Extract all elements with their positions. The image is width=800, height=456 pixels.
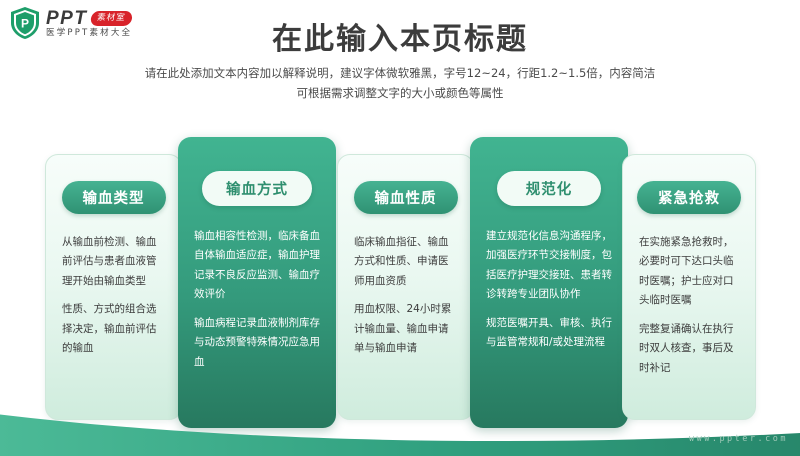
card-paragraph: 完整复诵确认在执行时双人核查，事后及时补记 (639, 320, 739, 378)
card-paragraph: 输血相容性检测，临床备血自体输血适应症，输血护理记录不良反应监测、输血疗效评价 (194, 227, 320, 305)
card-body: 输血相容性检测，临床备血自体输血适应症，输血护理记录不良反应监测、输血疗效评价 … (178, 227, 336, 372)
card-title-pill: 紧急抢救 (637, 181, 741, 214)
card-title-pill: 规范化 (497, 171, 601, 206)
card-body: 在实施紧急抢救时，必要时可下达口头临时医嘱；护士应对口头临时医嘱 完整复诵确认在… (623, 233, 755, 378)
card-paragraph: 在实施紧急抢救时，必要时可下达口头临时医嘱；护士应对口头临时医嘱 (639, 233, 739, 311)
card-emergency-rescue[interactable]: 紧急抢救 在实施紧急抢救时，必要时可下达口头临时医嘱；护士应对口头临时医嘱 完整… (622, 154, 756, 420)
card-paragraph: 从输血前检测、输血前评估与患者血液管理开始由输血类型 (62, 233, 165, 291)
card-paragraph: 性质、方式的组合选择决定，输血前评估的输血 (62, 300, 165, 358)
card-transfusion-type[interactable]: 输血类型 从输血前检测、输血前评估与患者血液管理开始由输血类型 性质、方式的组合… (45, 154, 182, 420)
card-body: 建立规范化信息沟通程序，加强医疗环节交接制度，包括医疗护理交接班、患者转诊转跨专… (470, 227, 628, 353)
card-title-pill: 输血方式 (202, 171, 312, 206)
card-standardization[interactable]: 规范化 建立规范化信息沟通程序，加强医疗环节交接制度，包括医疗护理交接班、患者转… (470, 137, 628, 428)
card-paragraph: 规范医嘱开具、审核、执行与监管常规和/或处理流程 (486, 314, 612, 353)
card-title-pill: 输血类型 (62, 181, 166, 214)
card-transfusion-method[interactable]: 输血方式 输血相容性检测，临床备血自体输血适应症，输血护理记录不良反应监测、输血… (178, 137, 336, 428)
card-paragraph: 输血病程记录血液制剂库存与动态预警特殊情况应急用血 (194, 314, 320, 372)
card-paragraph: 建立规范化信息沟通程序，加强医疗环节交接制度，包括医疗护理交接班、患者转诊转跨专… (486, 227, 612, 305)
card-body: 临床输血指征、输血方式和性质、申请医师用血资质 用血权限、24小时累计输血量、输… (338, 233, 473, 359)
card-transfusion-nature[interactable]: 输血性质 临床输血指征、输血方式和性质、申请医师用血资质 用血权限、24小时累计… (337, 154, 474, 420)
card-row: 输血类型 从输血前检测、输血前评估与患者血液管理开始由输血类型 性质、方式的组合… (0, 0, 800, 450)
card-paragraph: 用血权限、24小时累计输血量、输血申请单与输血申请 (354, 300, 457, 358)
card-body: 从输血前检测、输血前评估与患者血液管理开始由输血类型 性质、方式的组合选择决定，… (46, 233, 181, 359)
card-title-pill: 输血性质 (354, 181, 458, 214)
watermark: www.ppter.com (689, 434, 788, 444)
card-paragraph: 临床输血指征、输血方式和性质、申请医师用血资质 (354, 233, 457, 291)
